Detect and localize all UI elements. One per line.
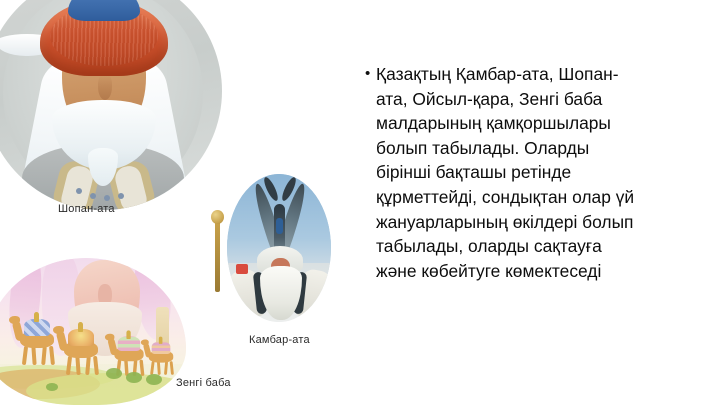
zengi-baba-camel: [143, 343, 179, 375]
image-shopan-ata: [0, 0, 222, 210]
shopan-ata-blue-cap: [68, 0, 140, 21]
shopan-ata-nose: [98, 74, 112, 100]
content-text-block: • Қазақтың Қамбар-ата, Шопан- ата, Ойсыл…: [365, 62, 710, 283]
shopan-ata-collar-stud: [118, 193, 124, 199]
zengi-baba-bush: [46, 383, 58, 391]
slide-canvas: Шопан-ата Камбар-ата: [0, 0, 720, 405]
bullet-list-item: • Қазақтың Қамбар-ата, Шопан- ата, Ойсыл…: [365, 62, 710, 283]
kambar-ata-staff-head: [211, 210, 224, 224]
shopan-ata-collar-stud: [90, 193, 96, 199]
body-paragraph: Қазақтың Қамбар-ата, Шопан- ата, Ойсыл-қ…: [376, 62, 710, 283]
bullet-marker-icon: •: [365, 62, 376, 87]
shopan-ata-collar-stud: [76, 188, 82, 194]
caption-kambar-ata: Камбар-ата: [249, 334, 310, 346]
image-kambar-ata: [227, 174, 331, 322]
kambar-ata-staff: [215, 220, 220, 292]
shopan-ata-circle-frame: [0, 0, 222, 210]
zengi-baba-bush: [106, 368, 122, 379]
caption-shopan-ata: Шопан-ата: [58, 203, 115, 215]
kambar-ata-headdress-ornament: [276, 218, 283, 234]
shopan-ata-collar-stud: [104, 195, 110, 201]
caption-zengi-baba: Зенгі баба: [176, 377, 231, 389]
zengi-baba-bush: [126, 372, 142, 383]
kambar-ata-red-accent: [236, 264, 248, 274]
kambar-ata-circle-frame: [227, 174, 331, 322]
image-zengi-baba: [0, 258, 186, 405]
zengi-baba-bush: [146, 374, 162, 385]
zengi-baba-camel: [56, 331, 106, 375]
zengi-baba-frame: [0, 258, 186, 405]
